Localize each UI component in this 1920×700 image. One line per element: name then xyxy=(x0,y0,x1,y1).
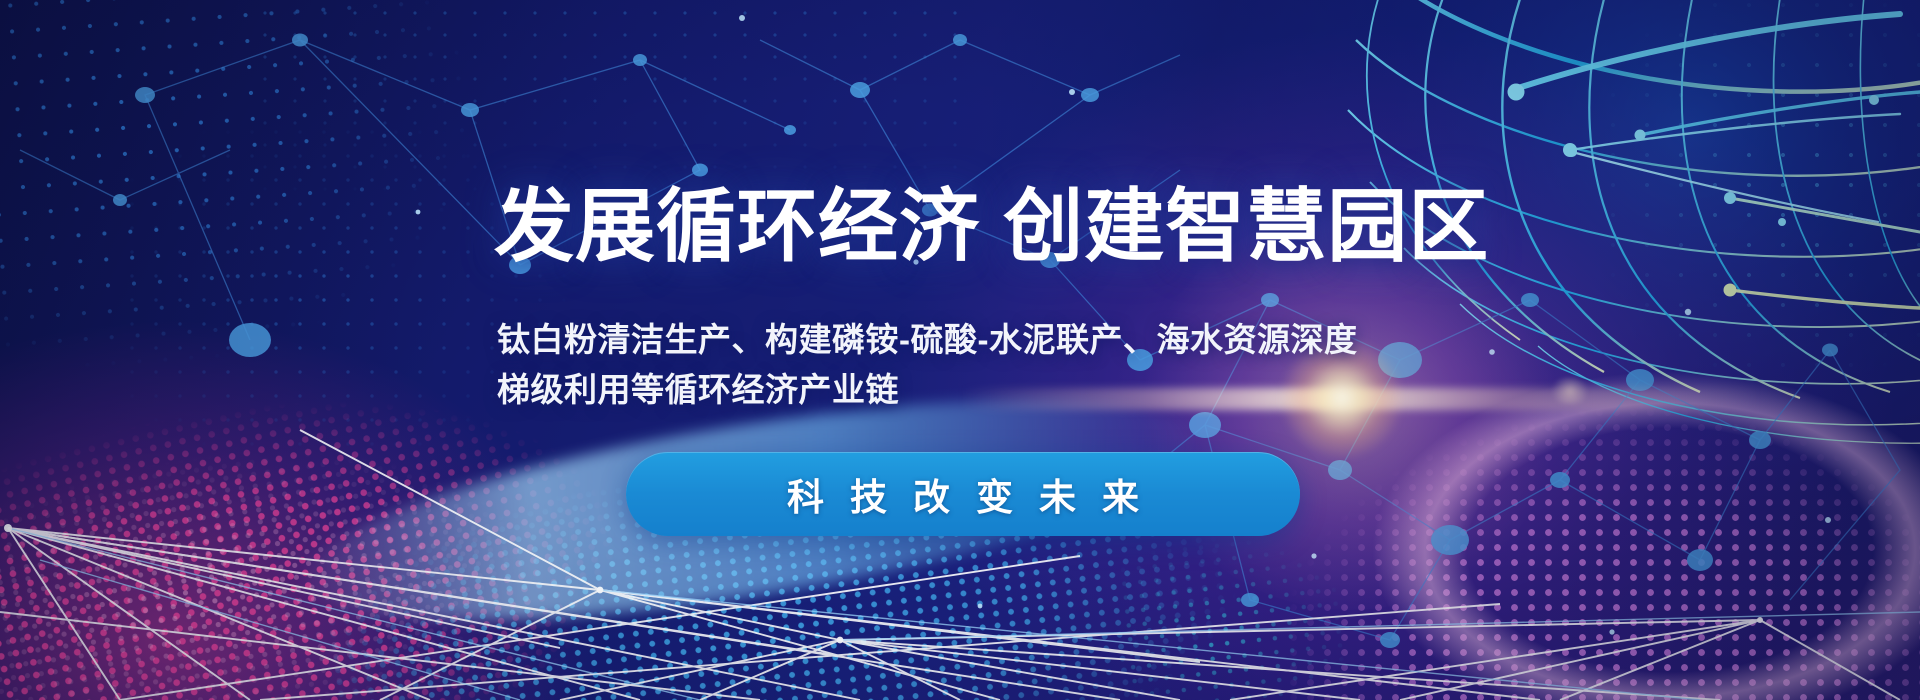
page-title: 发展循环经济 创建智慧园区 xyxy=(494,186,1489,268)
slogan-cta-label: 科技改变未来 xyxy=(761,467,1165,521)
banner-content: 发展循环经济 创建智慧园区 钛白粉清洁生产、构建磷铵-硫酸-水泥联产、海水资源深… xyxy=(0,0,1920,700)
subtitle-line-2: 梯级利用等循环经济产业链 xyxy=(497,365,1357,415)
subtitle-line-1: 钛白粉清洁生产、构建磷铵-硫酸-水泥联产、海水资源深度 xyxy=(497,315,1357,365)
banner-subtitle: 钛白粉清洁生产、构建磷铵-硫酸-水泥联产、海水资源深度 梯级利用等循环经济产业链 xyxy=(497,315,1357,415)
hero-banner: 发展循环经济 创建智慧园区 钛白粉清洁生产、构建磷铵-硫酸-水泥联产、海水资源深… xyxy=(0,0,1920,700)
slogan-cta-button[interactable]: 科技改变未来 xyxy=(626,452,1300,536)
